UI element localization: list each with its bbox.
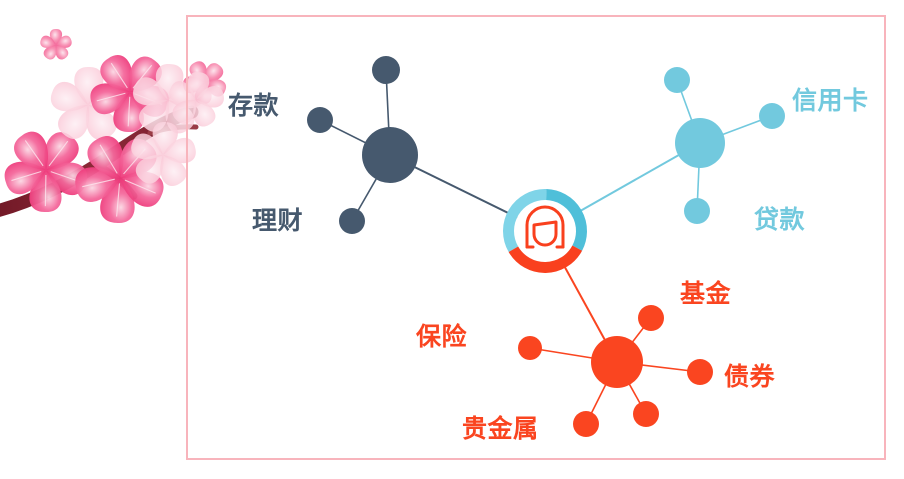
node-bond[interactable]: [687, 359, 713, 385]
node-metal-left[interactable]: [573, 411, 599, 437]
cherry-blossom-branch: [0, 29, 235, 232]
node-credit-right[interactable]: [759, 103, 785, 129]
node-credit-bottom[interactable]: [684, 198, 710, 224]
node-insurance[interactable]: [518, 336, 542, 360]
petal-cluster-floating: [39, 29, 73, 62]
node-deposits-left[interactable]: [307, 107, 333, 133]
node-deposits-bottom[interactable]: [339, 208, 365, 234]
label-zhaiquan[interactable]: 债券: [724, 365, 775, 390]
label-cunkuan[interactable]: 存款: [228, 94, 279, 119]
label-daikuan[interactable]: 贷款: [754, 208, 805, 233]
label-baoxian[interactable]: 保险: [416, 325, 467, 350]
hub-credit[interactable]: [675, 118, 725, 168]
label-xinyongka[interactable]: 信用卡: [792, 89, 869, 114]
node-deposits-top[interactable]: [372, 56, 400, 84]
node-credit-top[interactable]: [664, 67, 690, 93]
node-fund[interactable]: [638, 305, 664, 331]
bank-logo[interactable]: [508, 195, 581, 268]
hub-deposits[interactable]: [362, 127, 418, 183]
label-licai[interactable]: 理财: [252, 209, 303, 234]
diagram-canvas: 存款理财信用卡贷款保险基金债券贵金属: [0, 0, 904, 479]
node-precious-metal[interactable]: [633, 401, 659, 427]
label-jijin[interactable]: 基金: [680, 282, 731, 307]
logo-inner-bg: [514, 200, 576, 262]
hub-investment[interactable]: [591, 336, 643, 388]
label-guijinshu[interactable]: 贵金属: [462, 417, 539, 442]
network-diagram: [0, 0, 904, 479]
